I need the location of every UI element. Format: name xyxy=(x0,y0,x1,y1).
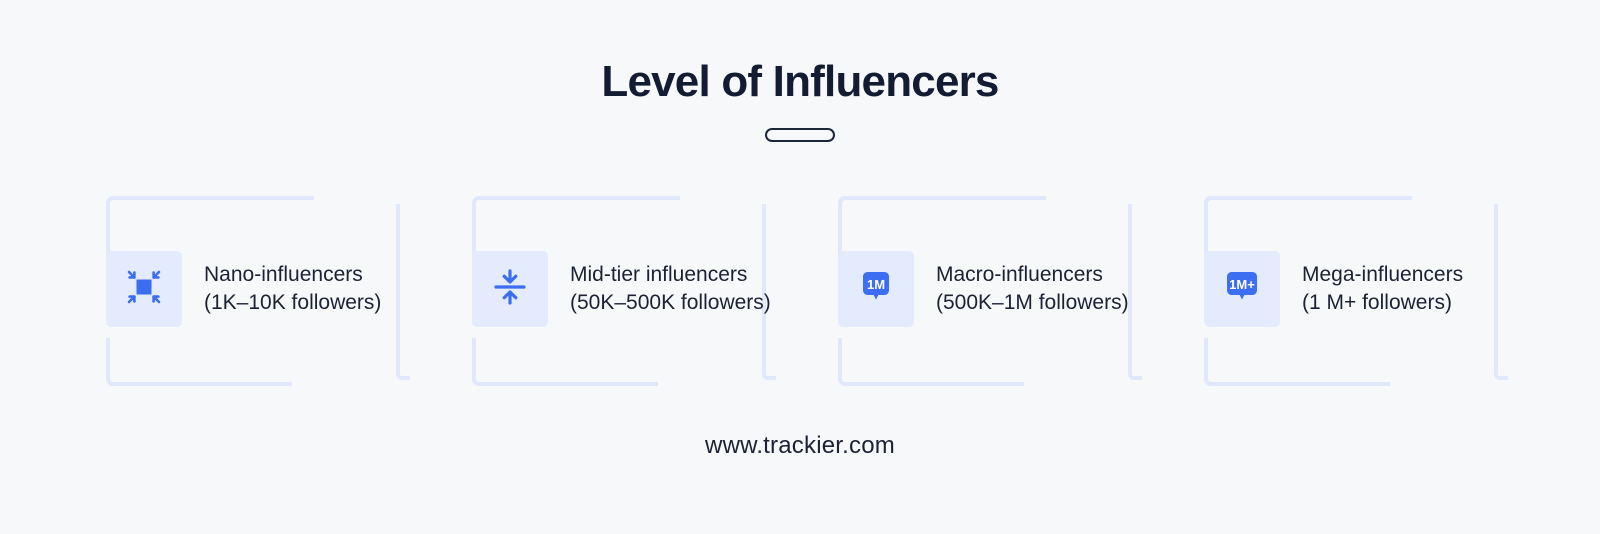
card-inner: 1M+ Mega-influencers (1 M+ followers) xyxy=(1204,251,1463,327)
bracket-tail-line xyxy=(1494,204,1508,380)
badge-1m-plus-icon: 1M+ xyxy=(1218,263,1266,316)
card-label: Macro-influencers (500K–1M followers) xyxy=(936,261,1129,316)
bracket-top-corner xyxy=(838,196,1046,256)
card-label-line2: (1 M+ followers) xyxy=(1302,289,1463,317)
icon-tile: 1M+ xyxy=(1204,251,1280,327)
badge-text: 1M+ xyxy=(1229,277,1255,292)
footer-url[interactable]: www.trackier.com xyxy=(0,432,1600,460)
badge-1m-icon: 1M xyxy=(852,263,900,316)
card-label-line1: Macro-influencers xyxy=(936,261,1129,289)
card-label-line1: Nano-influencers xyxy=(204,261,381,289)
collapse-square-icon xyxy=(122,265,166,314)
icon-tile xyxy=(106,251,182,327)
pill-divider xyxy=(765,128,835,142)
bracket-top-corner xyxy=(106,196,314,256)
icon-tile: 1M xyxy=(838,251,914,327)
bracket-bottom-corner xyxy=(838,338,1024,386)
page-title: Level of Influencers xyxy=(0,58,1600,106)
card-inner: 1M Macro-influencers (500K–1M followers) xyxy=(838,251,1129,327)
influencer-level-card-mega[interactable]: 1M+ Mega-influencers (1 M+ followers) xyxy=(1204,196,1500,386)
vertical-collapse-icon xyxy=(488,265,532,314)
badge-text: 1M xyxy=(867,277,885,292)
card-label: Mega-influencers (1 M+ followers) xyxy=(1302,261,1463,316)
bracket-tail-line xyxy=(396,204,410,380)
card-inner: Mid-tier influencers (50K–500K followers… xyxy=(472,251,771,327)
influencer-level-card-macro[interactable]: 1M Macro-influencers (500K–1M followers) xyxy=(838,196,1134,386)
bracket-top-corner xyxy=(472,196,680,256)
card-label-line2: (1K–10K followers) xyxy=(204,289,381,317)
card-label-line2: (50K–500K followers) xyxy=(570,289,771,317)
bracket-bottom-corner xyxy=(106,338,292,386)
card-label: Nano-influencers (1K–10K followers) xyxy=(204,261,381,316)
card-label: Mid-tier influencers (50K–500K followers… xyxy=(570,261,771,316)
card-label-line1: Mid-tier influencers xyxy=(570,261,771,289)
card-inner: Nano-influencers (1K–10K followers) xyxy=(106,251,381,327)
bracket-top-corner xyxy=(1204,196,1412,256)
title-block: Level of Influencers xyxy=(0,58,1600,142)
influencer-level-card-mid-tier[interactable]: Mid-tier influencers (50K–500K followers… xyxy=(472,196,768,386)
card-label-line1: Mega-influencers xyxy=(1302,261,1463,289)
card-label-line2: (500K–1M followers) xyxy=(936,289,1129,317)
bracket-bottom-corner xyxy=(1204,338,1390,386)
influencer-levels-row: Nano-influencers (1K–10K followers) xyxy=(0,196,1600,386)
bracket-tail-line xyxy=(1128,204,1142,380)
icon-tile xyxy=(472,251,548,327)
bracket-bottom-corner xyxy=(472,338,658,386)
influencer-level-card-nano[interactable]: Nano-influencers (1K–10K followers) xyxy=(106,196,402,386)
